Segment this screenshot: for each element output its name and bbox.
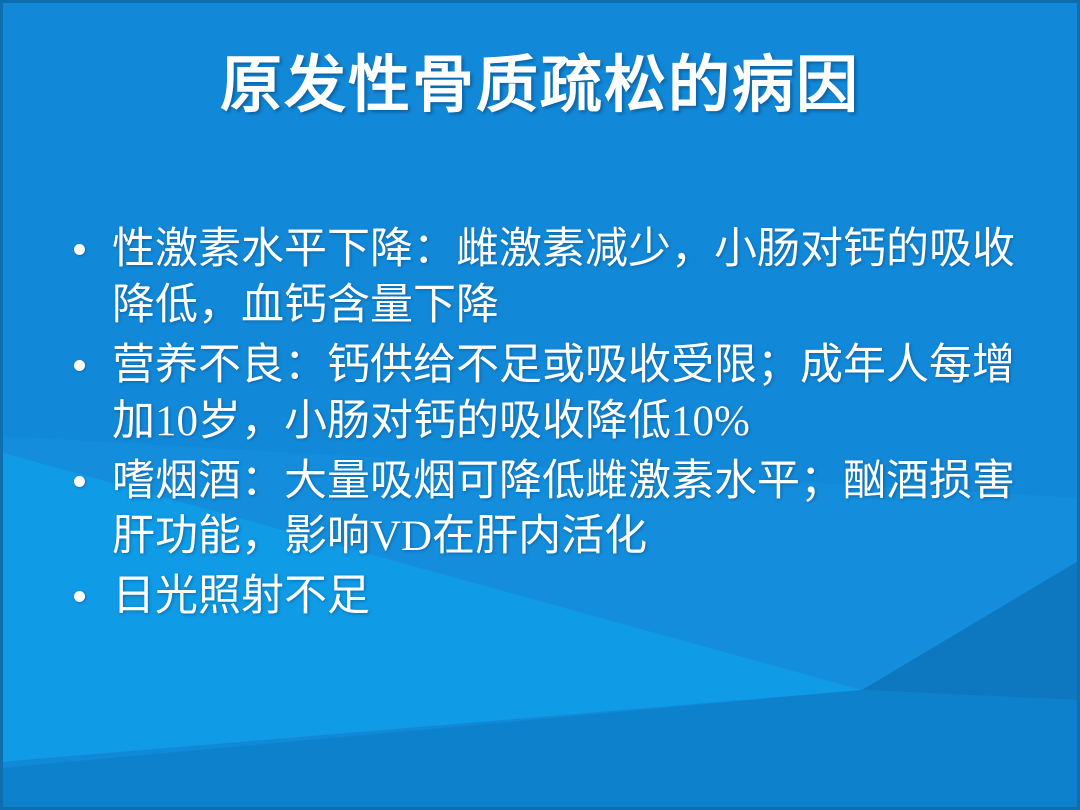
bullet-dot-icon — [74, 591, 85, 602]
list-item: 性激素水平下降：雌激素减少，小肠对钙的吸收降低，血钙含量下降 — [62, 222, 1017, 334]
bullet-dot-icon — [74, 244, 85, 255]
bullet-text: 嗜烟酒：大量吸烟可降低雌激素水平；酗酒损害肝功能，影响VD在肝内活化 — [96, 454, 1017, 566]
bullet-marker — [62, 569, 96, 602]
bullet-dot-icon — [74, 476, 85, 487]
list-item: 营养不良：钙供给不足或吸收受限；成年人每增加10岁，小肠对钙的吸收降低10% — [62, 338, 1017, 450]
bullet-text: 营养不良：钙供给不足或吸收受限；成年人每增加10岁，小肠对钙的吸收降低10% — [96, 338, 1017, 450]
bullet-text: 日光照射不足 — [96, 569, 1017, 625]
slide-title: 原发性骨质疏松的病因 — [0, 52, 1080, 121]
list-item: 日光照射不足 — [62, 569, 1017, 625]
list-item: 嗜烟酒：大量吸烟可降低雌激素水平；酗酒损害肝功能，影响VD在肝内活化 — [62, 454, 1017, 566]
bullet-text: 性激素水平下降：雌激素减少，小肠对钙的吸收降低，血钙含量下降 — [96, 222, 1017, 334]
bullet-marker — [62, 222, 96, 255]
bullet-marker — [62, 338, 96, 371]
bullet-list: 性激素水平下降：雌激素减少，小肠对钙的吸收降低，血钙含量下降 营养不良：钙供给不… — [62, 222, 1017, 629]
bullet-dot-icon — [74, 360, 85, 371]
presentation-slide: 原发性骨质疏松的病因 性激素水平下降：雌激素减少，小肠对钙的吸收降低，血钙含量下… — [0, 0, 1080, 810]
bullet-marker — [62, 454, 96, 487]
